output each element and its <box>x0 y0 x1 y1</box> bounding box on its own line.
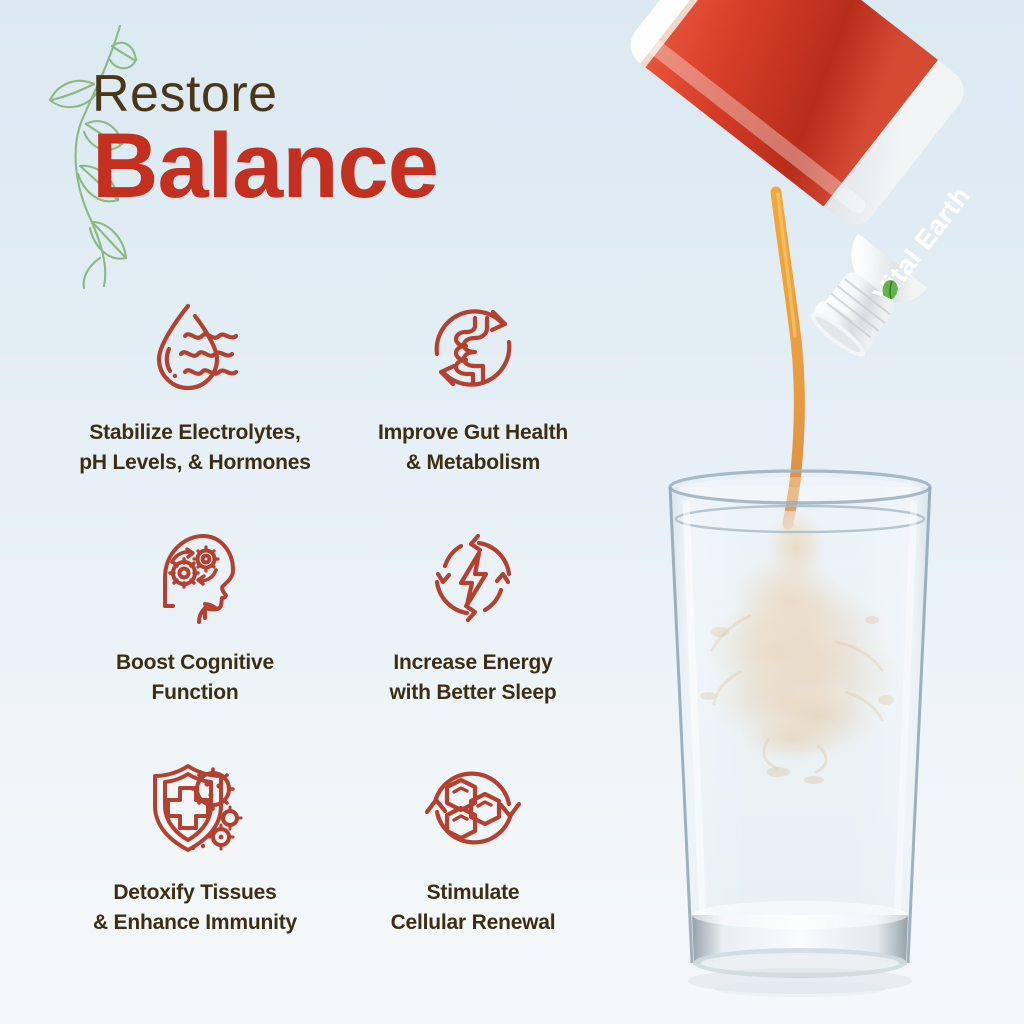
drinking-glass-of-water <box>640 415 960 1015</box>
benefit-caption: Increase Energy with Better Sleep <box>390 648 557 708</box>
head-gears-cognitive-icon <box>143 526 247 630</box>
benefit-item-immunity: Detoxify Tissues & Enhance Immunity <box>50 756 340 986</box>
page-title: Restore Balance <box>92 68 438 209</box>
benefit-item-gut-health: Improve Gut Health & Metabolism <box>340 296 606 526</box>
headline-line-1: Restore <box>92 68 438 120</box>
product-photo: Vital Earth <box>600 0 1024 1024</box>
benefit-caption: Stabilize Electrolytes, pH Levels, & Hor… <box>79 418 311 478</box>
benefit-caption: Improve Gut Health & Metabolism <box>378 418 568 478</box>
water-droplet-waves-icon <box>143 296 247 400</box>
benefit-item-cognitive: Boost Cognitive Function <box>50 526 340 756</box>
promo-canvas: Restore Balance Stabilize Electrolytes, … <box>0 0 1024 1024</box>
benefits-grid: Stabilize Electrolytes, pH Levels, & Hor… <box>50 296 606 986</box>
benefit-item-energy: Increase Energy with Better Sleep <box>340 526 606 756</box>
benefit-caption: Boost Cognitive Function <box>116 648 274 708</box>
lightning-bolt-refresh-icon <box>421 526 525 630</box>
headline-line-2: Balance <box>92 124 438 209</box>
hexagon-cells-refresh-icon <box>421 756 525 860</box>
benefit-item-cellular-renewal: Stimulate Cellular Renewal <box>340 756 606 986</box>
benefit-caption: Detoxify Tissues & Enhance Immunity <box>93 878 297 938</box>
gut-intestine-refresh-icon <box>421 296 525 400</box>
benefit-caption: Stimulate Cellular Renewal <box>391 878 556 938</box>
benefit-item-electrolytes: Stabilize Electrolytes, pH Levels, & Hor… <box>50 296 340 526</box>
shield-cross-germs-icon <box>143 756 247 860</box>
